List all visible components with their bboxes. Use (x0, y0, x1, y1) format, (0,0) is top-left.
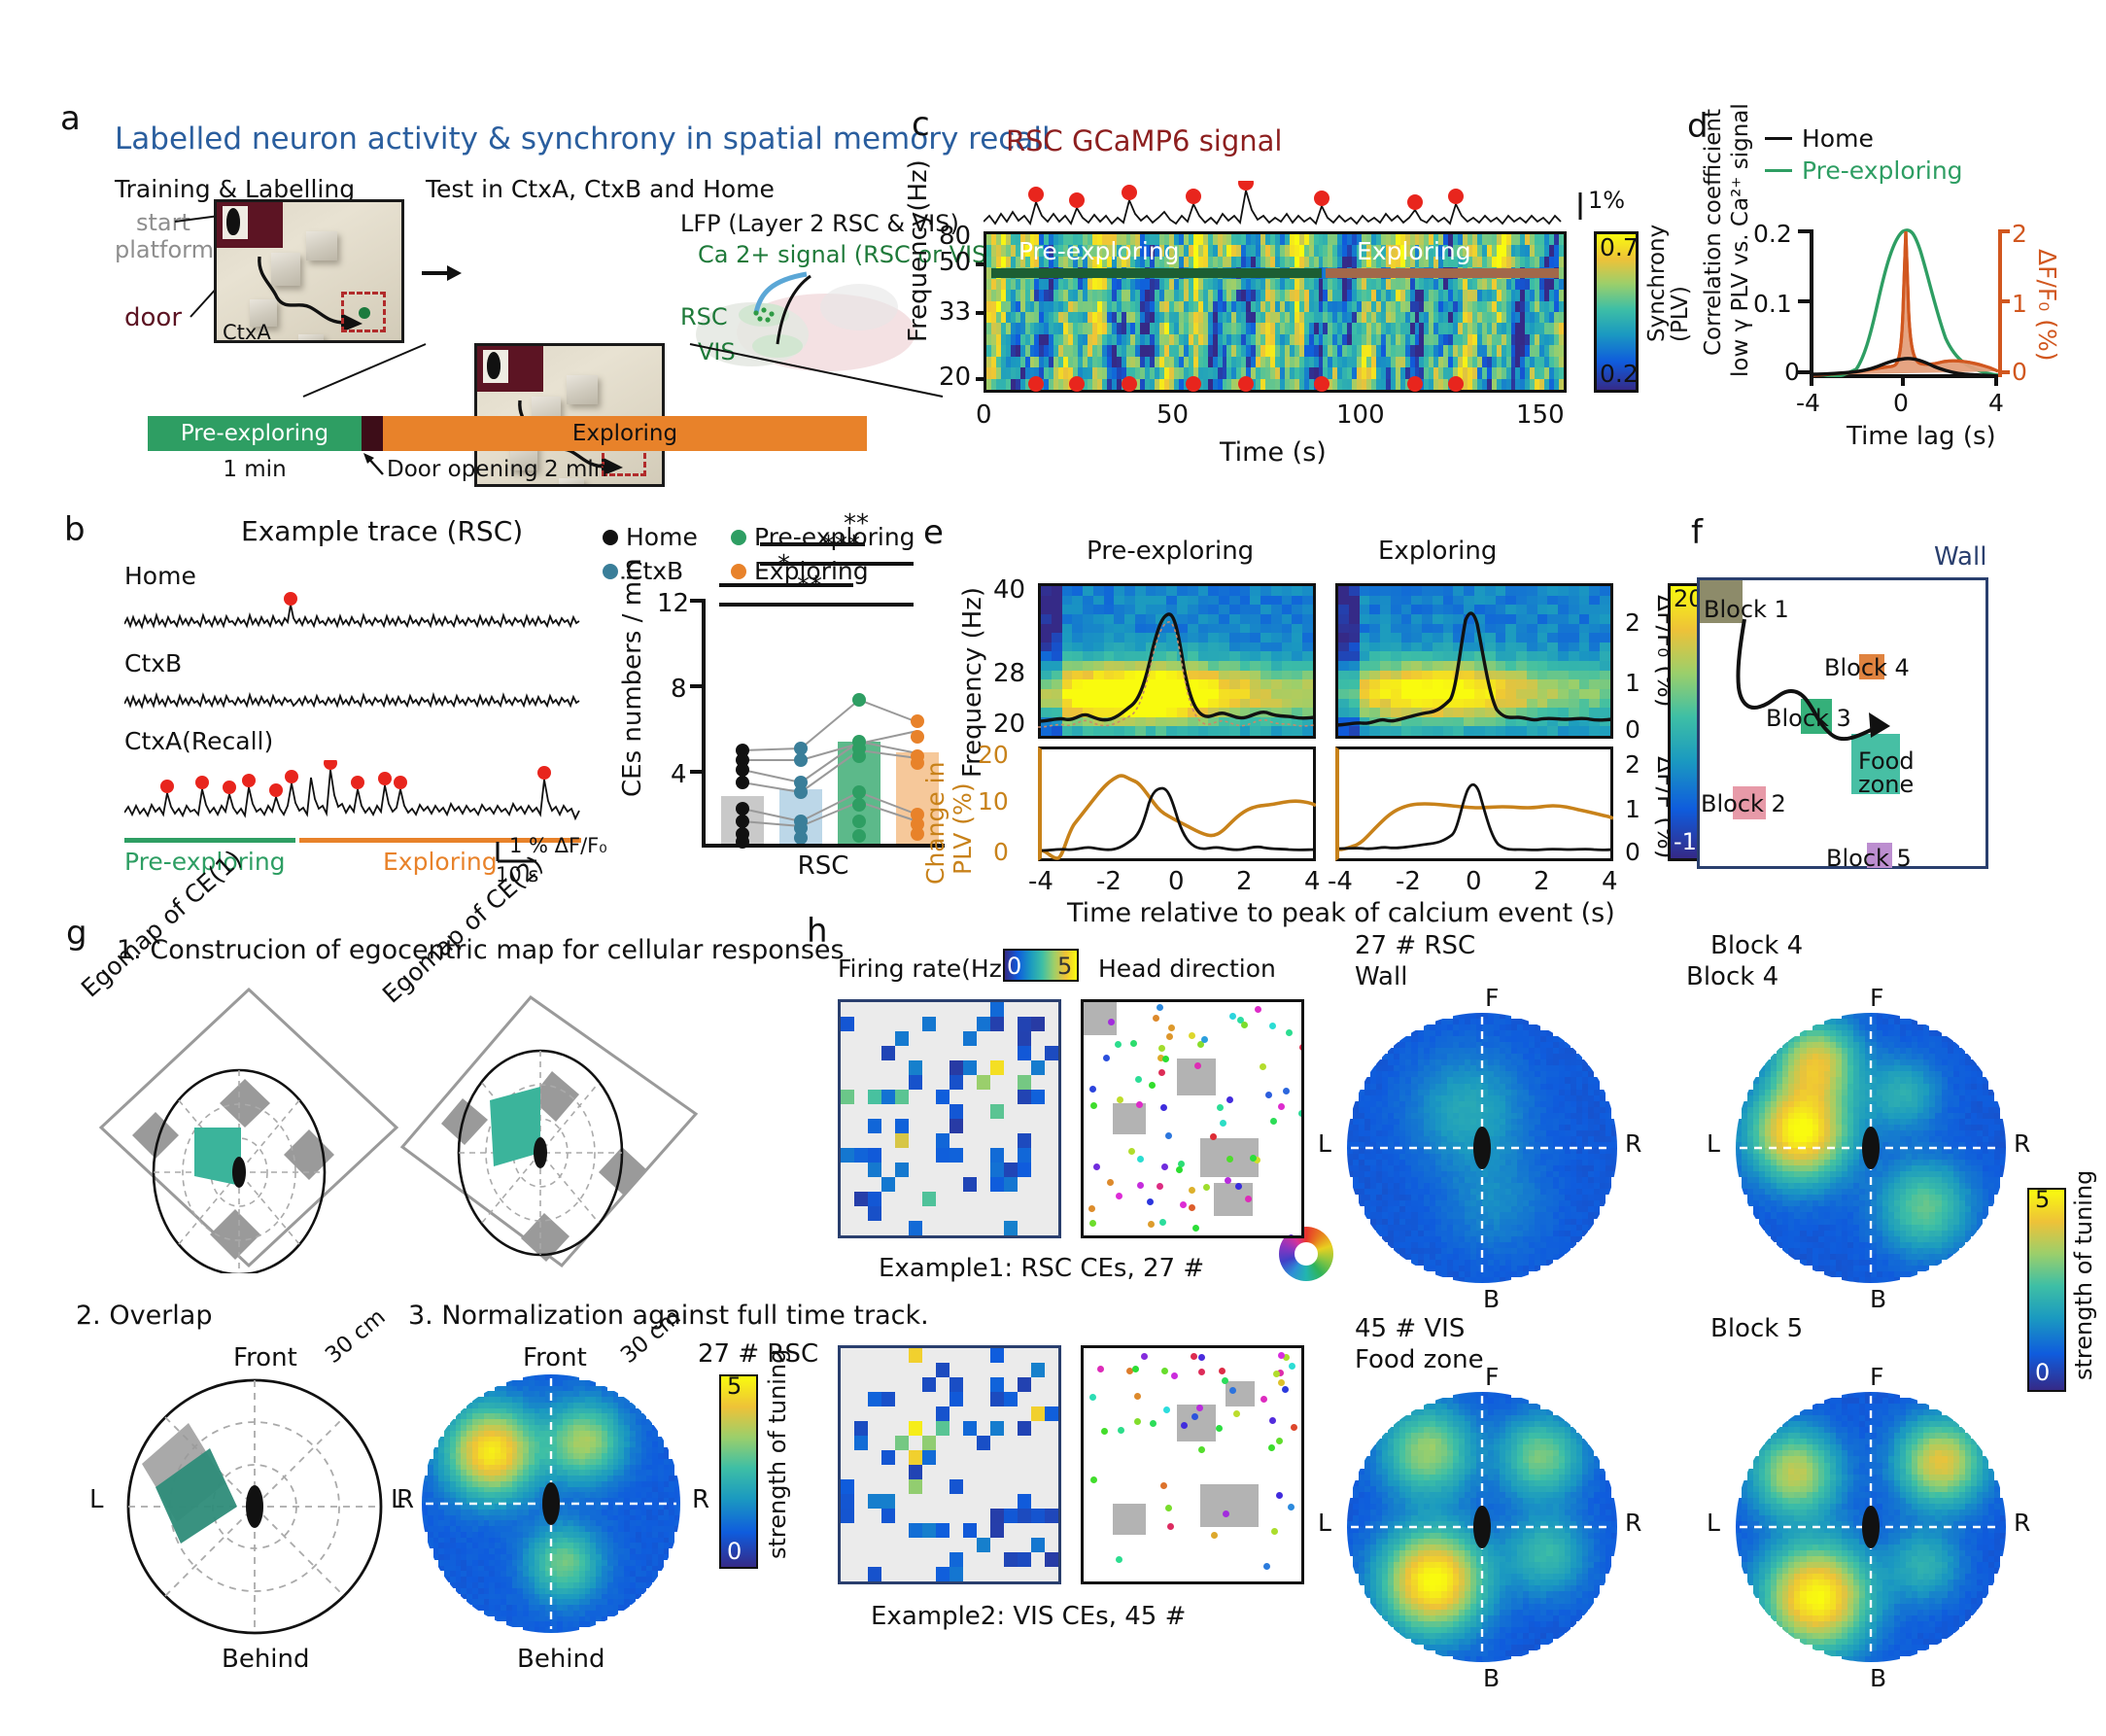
head-direction-dot (1132, 1366, 1139, 1372)
h-cbar-label: strength of tuning (2070, 1196, 2097, 1380)
d-xtick-4: 4 (1988, 389, 2004, 417)
timeline-pre-time: 1 min (148, 457, 362, 482)
e-xtick-r-0: 0 (1466, 867, 1482, 896)
arena-label-ctxa: CtxA (223, 321, 271, 343)
e-xtick-r-2: 2 (1534, 867, 1550, 896)
obstacle-block (1113, 1103, 1146, 1134)
e-subtitle-right: Exploring (1378, 537, 1497, 566)
h-polar1-B: B (1483, 1285, 1500, 1313)
panel-letter-e: e (923, 513, 944, 552)
e-ytick-r-2: 2 (1625, 608, 1640, 637)
legend-dot-pre (731, 530, 746, 545)
head-direction-dot (1198, 1446, 1205, 1453)
h-polar1-R: R (1625, 1129, 1641, 1158)
head-direction-dot (1141, 1353, 1148, 1360)
legend-dot-home (603, 530, 618, 545)
h-polar3-F: F (1485, 1363, 1499, 1391)
h-polar2-L: L (1707, 1129, 1720, 1158)
head-direction-dot (1250, 1155, 1257, 1162)
g-radius-label-1: 30 cm (321, 1304, 391, 1369)
e-xtick-l-m4: -4 (1028, 867, 1053, 896)
e-trace-exp (1335, 583, 1613, 739)
head-direction-dot (1282, 1386, 1289, 1393)
head-direction-dot (1260, 1235, 1267, 1238)
c-cbar-max: 0.7 (1600, 233, 1639, 261)
head-direction-dot (1159, 1219, 1166, 1226)
g-left-label-2: L (391, 1485, 405, 1514)
timeline-seg-pre: Pre-exploring (148, 416, 362, 451)
c-cbar-min: 0.2 (1600, 360, 1639, 388)
panel-e-ylabel-bot-1: Change in (921, 768, 949, 885)
g-tuning-crosshair (422, 1374, 680, 1633)
h-ratemap-1 (838, 999, 1061, 1238)
head-direction-dot (1118, 1427, 1124, 1434)
d-xtick-m4: -4 (1796, 389, 1820, 417)
d-ytick-r-mark-2 (1998, 229, 2010, 233)
c-xtick-0: 0 (976, 400, 992, 430)
e-bot-ytick-r-1: 1 (1625, 795, 1640, 823)
d-ytick-02: 0.2 (1753, 220, 1792, 248)
head-direction-dot (1288, 1504, 1295, 1510)
e-bot-ytick-0: 0 (993, 838, 1009, 866)
head-direction-dot (1097, 1366, 1104, 1372)
head-direction-dot (1201, 1036, 1208, 1043)
g-cbar-min: 0 (727, 1538, 742, 1565)
h-polar4-cross (1736, 1392, 2006, 1662)
head-direction-dot (1235, 1183, 1242, 1190)
head-direction-dot (1107, 1179, 1114, 1186)
g-step2-label: 2. Overlap (76, 1301, 212, 1331)
head-direction-dot (1203, 1184, 1210, 1191)
g-right-label-2: R (692, 1485, 709, 1514)
head-direction-dot (1278, 1352, 1285, 1359)
panel-d-xlabel: Time lag (s) (1847, 422, 1996, 451)
head-direction-dot (1090, 1102, 1097, 1109)
c-band-exp (1326, 268, 1559, 278)
head-direction-dot (1286, 1235, 1293, 1239)
head-direction-dot (1226, 1156, 1233, 1163)
h-scattermap-1 (1081, 999, 1304, 1238)
head-direction-dot (1153, 1015, 1159, 1022)
head-direction-dot (1093, 1163, 1100, 1170)
head-direction-dot (1260, 1396, 1267, 1403)
c-xtick-150: 150 (1516, 400, 1565, 430)
d-ytick-mark-01 (1798, 299, 1812, 303)
head-direction-dot (1263, 1563, 1270, 1570)
panel-d-ylabel-right: ΔF/F₀ (%) (2033, 249, 2061, 375)
h-ratemap-2 (838, 1345, 1061, 1584)
g-cell-label: 27 # RSC (698, 1339, 818, 1369)
f-path-arrow (1733, 617, 1908, 753)
timeline-door-label: Door opening (387, 457, 538, 482)
head-direction-dot (1089, 1086, 1096, 1093)
b-ytick-4: 4 (671, 760, 687, 789)
panel-letter-c: c (912, 105, 930, 144)
head-direction-dot (1088, 1205, 1095, 1212)
head-direction-dot (1189, 1032, 1195, 1039)
head-direction-dot (1089, 1220, 1096, 1227)
head-direction-dot (1090, 1476, 1097, 1483)
h-example2-label: Example2: VIS CEs, 45 # (871, 1602, 1186, 1631)
e-xtick-r-4: 4 (1602, 867, 1618, 896)
h-polar4-L: L (1707, 1509, 1720, 1537)
head-direction-dot (1245, 1196, 1252, 1202)
h-polar1-F: F (1485, 984, 1499, 1012)
d-legend-label-pre: Pre-exploring (1802, 156, 1963, 185)
c-band-label-pre: Pre-exploring (1018, 237, 1180, 265)
head-direction-dot (1163, 1406, 1170, 1413)
head-direction-dot (1134, 1393, 1141, 1400)
head-direction-dot (1157, 1183, 1163, 1190)
e-plv-curves-exp (1339, 749, 1613, 860)
panel-letter-a: a (60, 99, 81, 138)
g-cbar-label: strength of tuning (764, 1384, 791, 1559)
head-direction-dot (1220, 1120, 1226, 1127)
trace-label-ctxb: CtxB (124, 649, 182, 677)
d-legend-label-home: Home (1802, 124, 1874, 153)
h-cbar-max: 5 (2035, 1186, 2050, 1213)
panel-d-ylabel-2: low γ PLV vs. Ca²⁺ signal (1728, 192, 1753, 377)
g-left-label-1: L (89, 1485, 104, 1514)
head-direction-dot (1265, 1092, 1272, 1098)
e-ytick-r-0: 0 (1625, 715, 1640, 744)
h-cbar-min: 0 (2035, 1359, 2050, 1386)
e-plv-plot-pre (1038, 746, 1316, 861)
c-ytick-50: 50 (939, 248, 971, 277)
head-direction-dot (1128, 1148, 1135, 1155)
head-direction-dot (1149, 1082, 1156, 1089)
head-direction-dot (1217, 1104, 1224, 1111)
h-firing-rate-max: 5 (1057, 953, 1072, 980)
head-direction-dot (1165, 1505, 1172, 1511)
trace-ctxa-recall (124, 760, 581, 830)
panel-b-ylabel: CEs numbers / min (618, 583, 647, 797)
head-direction-dot (1158, 1045, 1165, 1052)
brain-label-rsc: RSC (680, 303, 728, 330)
head-direction-dot (1137, 1182, 1144, 1189)
panel-letter-g: g (66, 914, 87, 953)
h-scattermap-2 (1081, 1345, 1304, 1584)
h-map-title-block4: Block 4 (1710, 931, 1803, 960)
f-food-zone-l2: zone (1858, 771, 1914, 798)
e-ytick-40: 40 (993, 575, 1025, 605)
head-direction-dot (1283, 1088, 1290, 1094)
head-direction-dot (1089, 1394, 1096, 1401)
panel-d-legend: Home Pre-exploring (1765, 124, 1963, 185)
g-overlap-polar (122, 1374, 387, 1639)
f-block-2-label: Block 2 (1701, 790, 1786, 817)
sig-line-3 (760, 562, 914, 566)
head-direction-dot (1216, 1425, 1223, 1432)
c-xtick-100: 100 (1336, 400, 1385, 430)
head-direction-dot (1278, 1379, 1285, 1386)
c-band-pre (991, 268, 1322, 278)
panel-e-xlabel: Time relative to peak of calcium event (… (1067, 898, 1615, 928)
b-xaxis (702, 844, 945, 848)
head-direction-dot (1211, 1532, 1218, 1539)
h-polar3-B: B (1483, 1664, 1500, 1692)
head-direction-dot (1269, 1023, 1276, 1029)
h-polar1-L: L (1318, 1129, 1331, 1158)
head-direction-dot (1229, 1013, 1236, 1020)
c-ytick-20: 20 (939, 363, 971, 392)
head-direction-dot (1137, 1156, 1144, 1163)
e-ytick-28: 28 (993, 659, 1025, 688)
head-direction-dot (1291, 1424, 1297, 1431)
sig-line-4 (760, 542, 865, 546)
head-direction-dot (1166, 1033, 1173, 1040)
e-xtick-l-m2: -2 (1096, 867, 1122, 896)
d-legend-line-pre (1765, 169, 1792, 172)
c-calcium-trace (984, 181, 1567, 233)
head-direction-dot (1273, 1371, 1280, 1377)
c-ytick-80: 80 (939, 222, 971, 251)
c-band-label-exp: Exploring (1357, 237, 1471, 265)
head-direction-dot (1116, 1193, 1122, 1199)
h-polar2-R: R (2014, 1129, 2030, 1158)
panel-letter-f: f (1691, 513, 1703, 552)
e-xtick-r-m2: -2 (1396, 867, 1421, 896)
c-cbar-title-l1: Synchrony (1644, 245, 1670, 342)
h-firing-rate-label: Firing rate(Hz) (838, 955, 1012, 983)
head-direction-dot (1130, 1040, 1137, 1047)
h-polar4-B: B (1870, 1664, 1886, 1692)
f-arena-box: Block 1 Block 2 Block 3 Block 4 Block 5 … (1697, 577, 1988, 869)
head-direction-dot (1150, 1420, 1157, 1427)
h-map-title-3: Block 4 (1686, 962, 1778, 991)
d-ytick-01: 0.1 (1753, 290, 1792, 318)
head-direction-dot (1160, 1482, 1167, 1489)
timeline-connector (165, 342, 952, 399)
annot-door: door (124, 303, 182, 332)
c-event-markers (984, 375, 1567, 395)
timeline-bar: Pre-exploring Exploring (148, 416, 867, 451)
h-map-title-2: Wall (1355, 962, 1407, 991)
head-direction-dot (1101, 1428, 1108, 1435)
d-ytick-mark-02 (1798, 229, 1812, 233)
head-direction-dot (1219, 1368, 1226, 1374)
head-direction-dot (1103, 1055, 1110, 1061)
head-direction-dot (1268, 1444, 1275, 1451)
head-direction-dot (1192, 1225, 1199, 1232)
h-map-title-block5: Block 5 (1710, 1314, 1803, 1343)
g-cbar-max: 5 (727, 1372, 742, 1400)
head-direction-dot (1158, 1069, 1165, 1076)
h-map-title-1: 27 # RSC (1355, 931, 1475, 960)
h-firing-rate-min: 0 (1007, 953, 1021, 980)
head-direction-dot (1299, 1044, 1304, 1051)
g-front-label-1: Front (233, 1343, 297, 1372)
head-direction-dot (1233, 1410, 1240, 1417)
head-direction-dot (1136, 1101, 1143, 1108)
c-ytick-33: 33 (939, 297, 971, 327)
e-plv-curves-pre (1042, 749, 1316, 860)
head-direction-dot (1115, 1041, 1122, 1048)
h-polar2-F: F (1870, 984, 1883, 1012)
panel-e-ylabel-bot-2: PLV (%) (949, 768, 977, 875)
e-bot-ytick-r-2: 2 (1625, 750, 1640, 779)
e-trace-pre (1038, 583, 1316, 739)
legend-dot-exp (731, 564, 746, 579)
b-ytick-8: 8 (671, 675, 687, 704)
head-direction-dot (1171, 1372, 1178, 1379)
panel-letter-h: h (807, 912, 828, 951)
c-scale-label: 1% (1588, 187, 1625, 214)
panel-c-xlabel: Time (s) (1220, 437, 1327, 468)
trace-ctxb (124, 680, 581, 719)
g-front-label-2: Front (523, 1343, 587, 1372)
h-polar4-F: F (1870, 1363, 1883, 1391)
legend-dot-ctxb (603, 564, 618, 579)
head-direction-dot (1276, 1492, 1283, 1499)
e-bot-ytick-20: 20 (978, 741, 1009, 769)
head-direction-dot (1269, 1417, 1276, 1424)
d-yaxis-right (1998, 229, 2002, 377)
head-direction-dot (1180, 1201, 1187, 1208)
g-egomap-2 (393, 982, 704, 1273)
f-wall-label: Wall (1934, 542, 1986, 572)
d-legend-line-home (1765, 137, 1792, 140)
b-ytick-12: 12 (657, 589, 689, 618)
f-block-5-label: Block 5 (1826, 845, 1912, 872)
e-ytick-20: 20 (993, 710, 1025, 739)
head-direction-dot (1198, 1369, 1205, 1375)
e-xtick-l-0: 0 (1168, 867, 1185, 896)
panel-a-right-title: Test in CtxA, CtxB and Home (426, 175, 775, 203)
e-bot-ytick-r-0: 0 (1625, 838, 1640, 866)
h-polar1-cross (1347, 1013, 1617, 1283)
head-direction-dot (1189, 1187, 1195, 1194)
trace-label-home: Home (124, 562, 196, 590)
h-polar3-R: R (1625, 1509, 1641, 1537)
head-direction-dot (1135, 1076, 1142, 1083)
head-direction-dot (1198, 1354, 1205, 1361)
d-curves (1813, 224, 1998, 377)
panel-d-ylabel-1: Correlation coefficient (1701, 192, 1726, 356)
h-map-title-45vis: 45 # VIS (1355, 1314, 1465, 1343)
panel-b-title: Example trace (RSC) (241, 515, 523, 547)
head-direction-dot (1161, 1368, 1168, 1374)
phase-label-exp: Exploring (383, 848, 498, 876)
food-dot (359, 307, 370, 319)
timeline-seg-door (362, 416, 383, 451)
h-map-title-foodzone: Food zone (1355, 1345, 1484, 1374)
legend-label-home: Home (626, 523, 723, 551)
obstacle-block (1200, 1484, 1259, 1527)
door-opening-arrow (362, 451, 389, 476)
head-direction-dot (1167, 1523, 1174, 1530)
head-direction-dot (1298, 1110, 1304, 1117)
head-direction-dot (1278, 1103, 1285, 1110)
panel-letter-b: b (64, 510, 86, 549)
mouse-icon-1 (226, 208, 240, 235)
figure-root: a Labelled neuron activity & synchrony i… (0, 0, 2106, 1736)
c-xtick-50: 50 (1157, 400, 1189, 430)
head-direction-dot (1168, 1024, 1175, 1031)
head-direction-dot (1289, 1363, 1295, 1370)
timeline-seg-exploring: Exploring (383, 416, 867, 451)
g-behind-label-1: Behind (222, 1645, 310, 1674)
g-egomap-1 (93, 982, 404, 1273)
h-polar4-R: R (2014, 1509, 2030, 1537)
head-direction-dot (1270, 1118, 1277, 1125)
panel-a-title: Labelled neuron activity & synchrony in … (115, 122, 1051, 156)
h-polar3-L: L (1318, 1509, 1331, 1537)
head-direction-dot (1255, 1006, 1261, 1013)
g-step1-label: 1. Construcion of egocentric map for cel… (117, 935, 845, 965)
head-direction-dot (1160, 1104, 1167, 1111)
head-direction-dot (1162, 1056, 1169, 1062)
e-plv-plot-exp (1335, 746, 1613, 861)
d-ytick-r-mark-1 (1998, 299, 2010, 303)
d-ytick-r-1: 1 (2012, 290, 2027, 318)
head-direction-dot (1189, 1204, 1195, 1211)
panel-c-ylabel: Frequency(Hz) (904, 187, 933, 342)
h-polar3-cross (1347, 1392, 1617, 1662)
e-xtick-r-m4: -4 (1328, 867, 1353, 896)
head-direction-dot (1108, 1019, 1115, 1025)
d-ytick-r-mark-0 (1998, 370, 2010, 374)
head-direction-dot (1241, 1022, 1248, 1028)
head-direction-dot (1286, 1029, 1293, 1036)
c-cbar-title-l2: (PLV) (1668, 284, 1693, 342)
phase-underline-pre (124, 838, 295, 843)
h-polar2-cross (1736, 1013, 2006, 1283)
trace-label-ctxa: CtxA(Recall) (124, 727, 273, 755)
arena-training: CtxA (214, 199, 404, 343)
obstacle-block (1226, 1381, 1255, 1406)
g-behind-label-2: Behind (517, 1645, 605, 1674)
h-example1-label: Example1: RSC CEs, 27 # (879, 1254, 1204, 1283)
h-polar2-B: B (1870, 1285, 1886, 1313)
e-ytick-r-1: 1 (1625, 669, 1640, 697)
head-direction-dot (1147, 1198, 1154, 1205)
head-direction-dot (1165, 1132, 1172, 1139)
e-xtick-l-2: 2 (1236, 867, 1253, 896)
d-ytick-r-2: 2 (2012, 220, 2027, 248)
panel-c-title: RSC GCaMP6 signal (1006, 124, 1282, 157)
head-direction-dot (1276, 1438, 1283, 1444)
head-direction-dot (1161, 1163, 1168, 1170)
trace-home (124, 591, 581, 638)
e-xtick-l-4: 4 (1304, 867, 1321, 896)
h-head-direction-label: Head direction (1098, 955, 1276, 983)
head-direction-dot (1191, 1353, 1197, 1360)
panel-b-xlabel: RSC (702, 851, 945, 881)
head-direction-dot (1116, 1556, 1122, 1563)
head-direction-dot (1226, 1096, 1233, 1103)
head-direction-dot (1157, 1004, 1163, 1011)
head-direction-dot (1134, 1418, 1141, 1425)
head-direction-dot (1148, 1221, 1155, 1228)
d-ytick-r-0: 0 (2012, 358, 2027, 386)
head-direction-dot (1260, 1063, 1266, 1070)
head-direction-dot (1176, 1166, 1183, 1173)
head-direction-dot (1210, 1133, 1217, 1140)
bar-datapoints (702, 583, 954, 851)
e-subtitle-left: Pre-exploring (1087, 537, 1254, 566)
sig-label-4: ** (844, 509, 869, 538)
head-direction-dot (1271, 1528, 1278, 1535)
e-bot-ytick-10: 10 (978, 787, 1009, 816)
arena-transition-arrow (420, 260, 463, 286)
timeline-explore-time: 2 min (544, 457, 607, 482)
obstacle-block (1113, 1504, 1146, 1535)
d-xtick-0: 0 (1893, 389, 1909, 417)
